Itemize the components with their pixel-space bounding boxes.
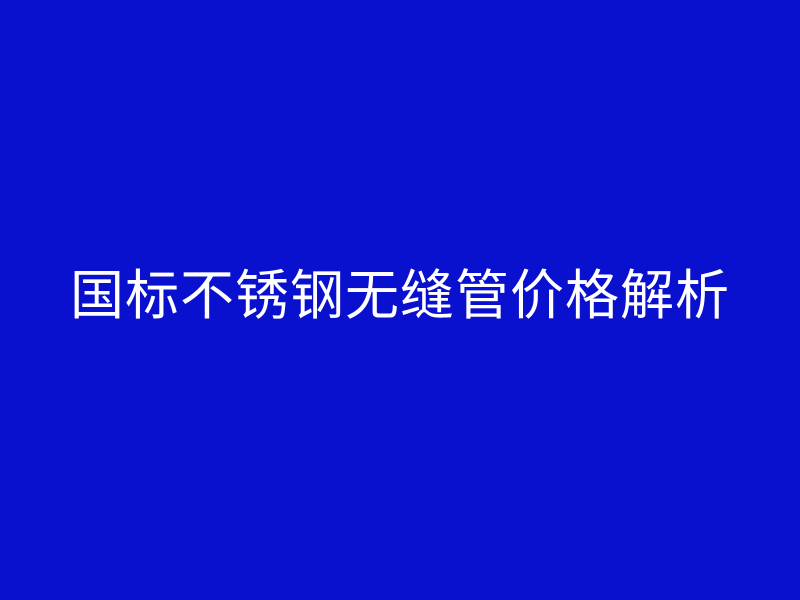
banner-canvas: 国标不锈钢无缝管价格解析 bbox=[0, 0, 800, 600]
title-block: 国标不锈钢无缝管价格解析 bbox=[0, 0, 800, 600]
page-title: 国标不锈钢无缝管价格解析 bbox=[70, 268, 730, 325]
